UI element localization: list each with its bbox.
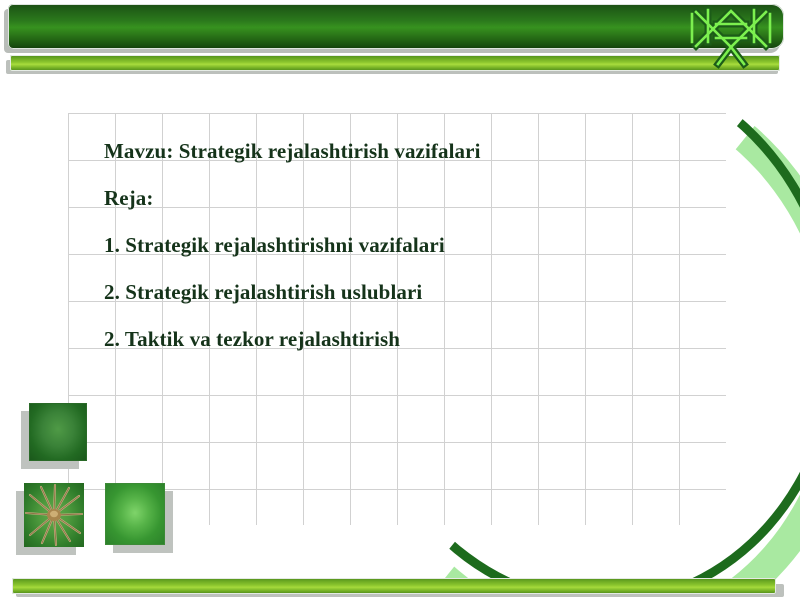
banner-lime-bar [10,55,780,71]
presentation-slide: Mavzu: Strategik rejalashtirish vazifala… [0,0,800,600]
dark-green-square [29,403,87,461]
spider-photo-square [24,483,84,547]
text-line-title: Mavzu: Strategik rejalashtirish vazifala… [104,128,624,175]
text-line-item-3: 2. Taktik va tezkor rejalashtirish [104,316,624,363]
light-green-square [105,483,165,545]
text-line-item-1: 1. Strategik rejalashtirishni vazifalari [104,222,624,269]
text-line-item-2: 2. Strategik rejalashtirish uslublari [104,269,624,316]
celtic-knot-ornament [688,2,774,78]
spider-icon [24,483,84,547]
bottom-bar [12,578,776,594]
slide-body-text: Mavzu: Strategik rejalashtirish vazifala… [104,128,624,363]
top-banner [0,0,800,80]
text-line-reja: Reja: [104,175,624,222]
banner-dark-bar [8,4,784,49]
